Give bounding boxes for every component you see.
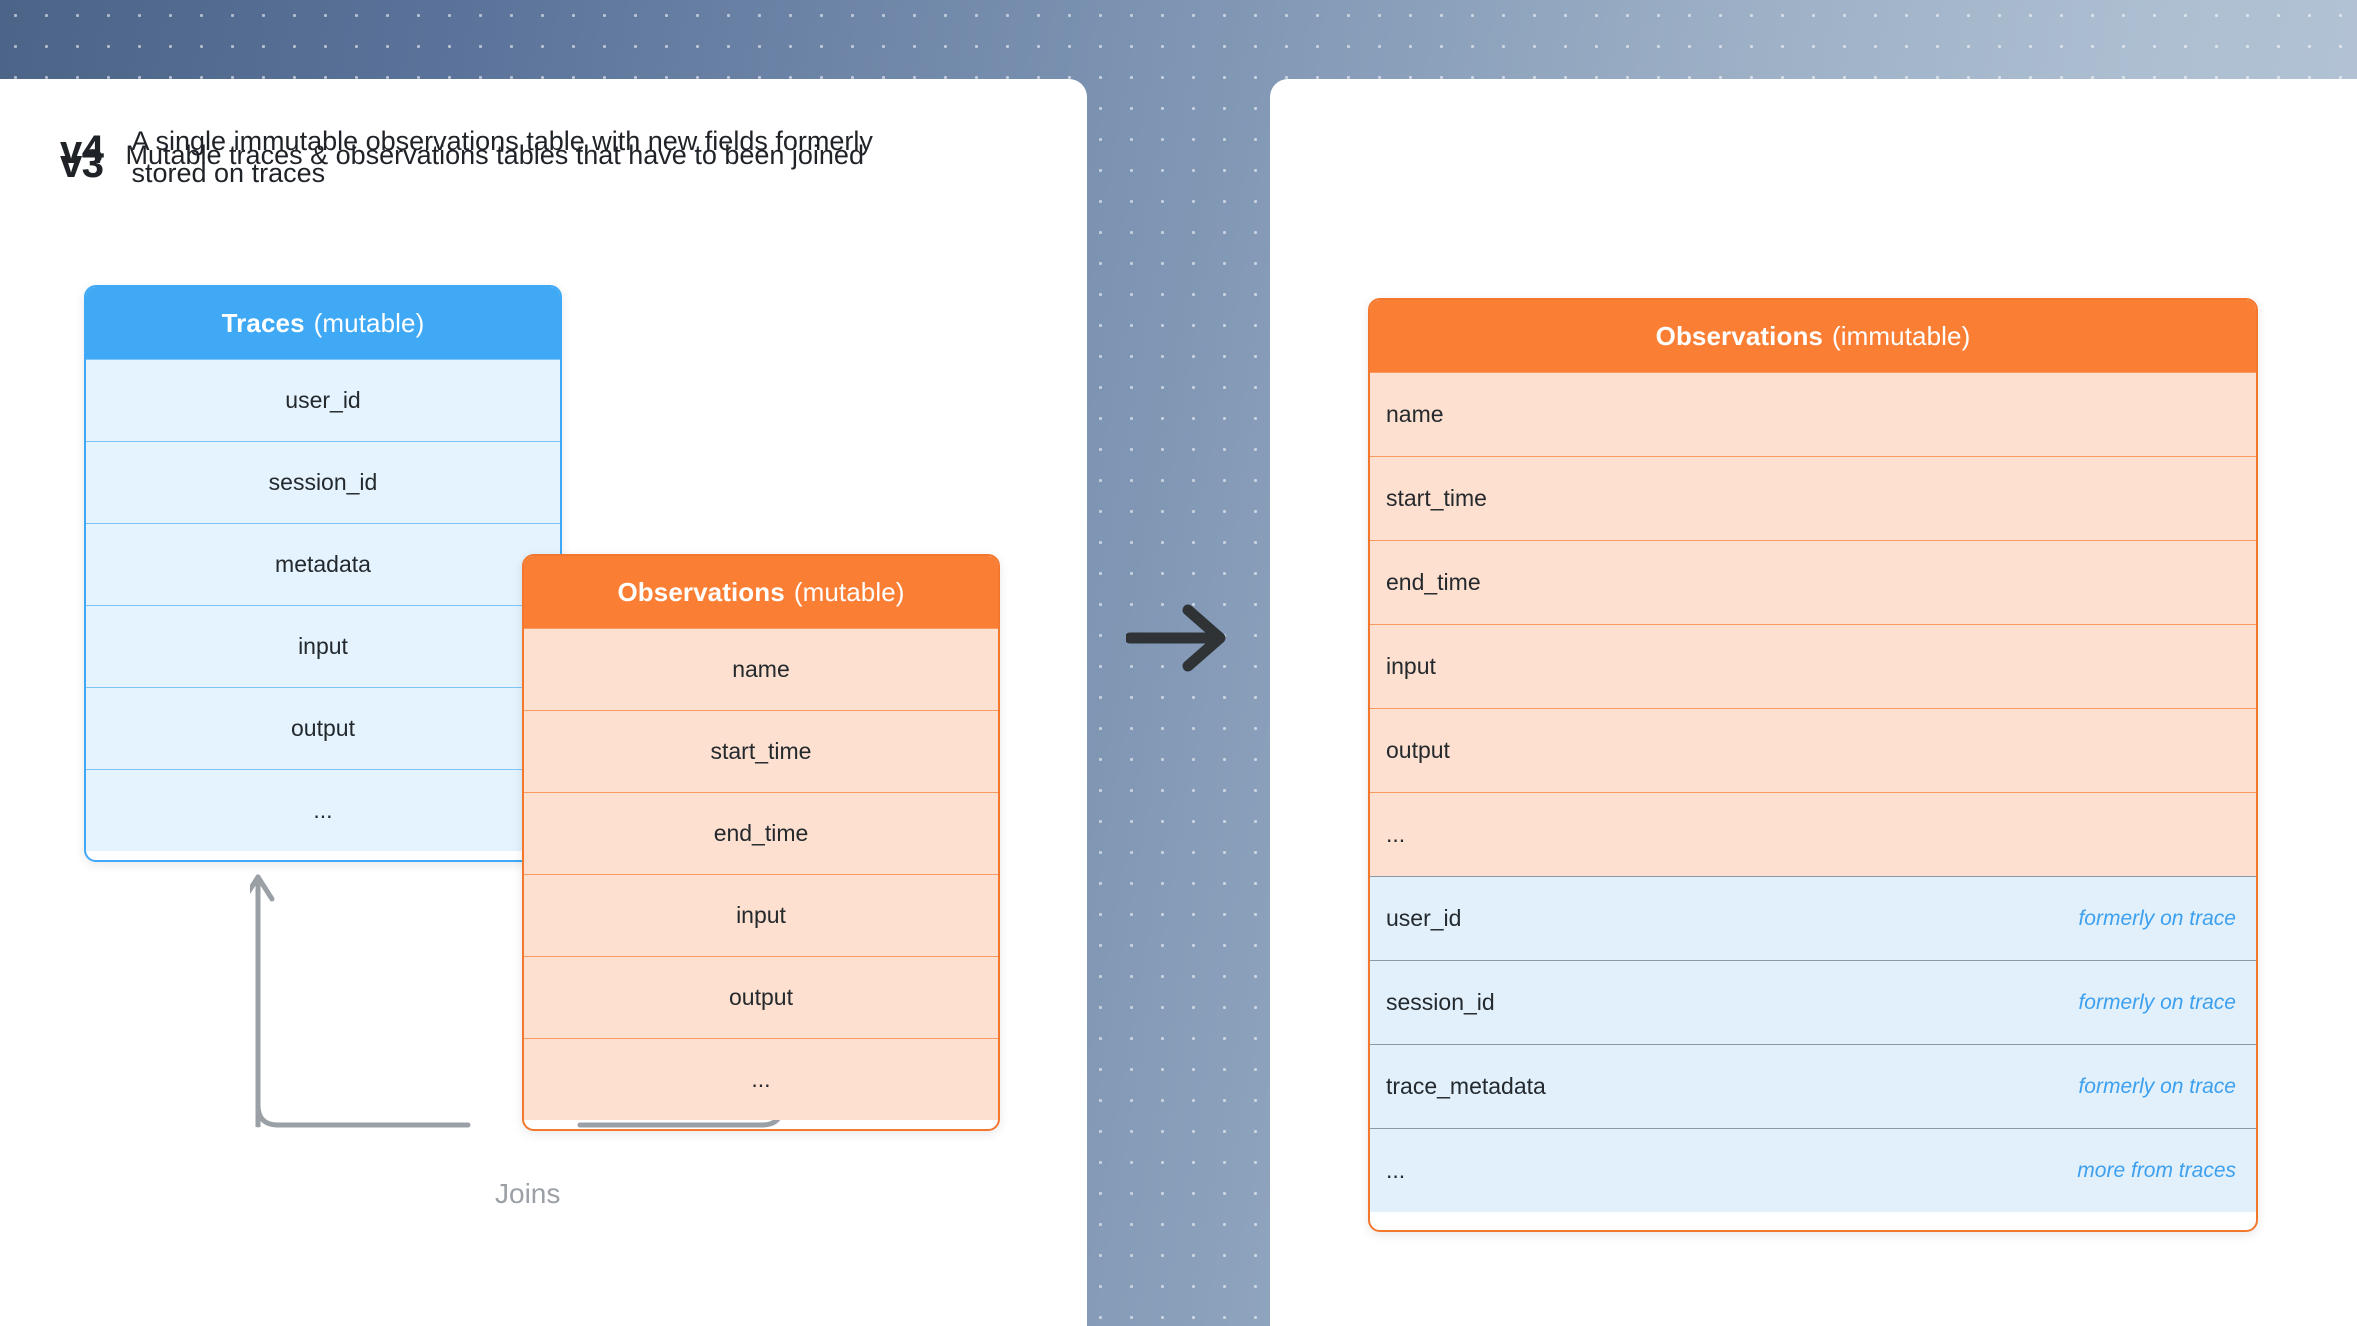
table-row: input	[1370, 624, 2256, 708]
table-row: output	[1370, 708, 2256, 792]
field-name: session_id	[1386, 989, 1495, 1016]
field-name: start_time	[711, 738, 812, 765]
field-name: metadata	[275, 551, 371, 578]
table-row: name	[1370, 372, 2256, 456]
panel-v4-heading: v4 A single immutable observations table…	[60, 126, 922, 190]
observations-immutable-table-header: Observations (immutable)	[1370, 300, 2256, 372]
field-name: ...	[1386, 1157, 1405, 1184]
field-name: output	[291, 715, 355, 742]
field-name: input	[298, 633, 348, 660]
table-row: input	[86, 605, 560, 687]
traces-table-subtitle: (mutable)	[314, 308, 425, 339]
field-name: output	[1386, 737, 1450, 764]
field-name: output	[729, 984, 793, 1011]
table-row: output	[86, 687, 560, 769]
traces-table-title: Traces	[222, 308, 305, 339]
table-row: ...	[524, 1038, 998, 1120]
field-note: more from traces	[2077, 1159, 2236, 1183]
table-row: end_time	[1370, 540, 2256, 624]
observations-immutable-table: Observations (immutable) name start_time…	[1368, 298, 2258, 1232]
table-row: metadata	[86, 523, 560, 605]
observations-mutable-title: Observations	[617, 577, 784, 608]
field-name: start_time	[1386, 485, 1487, 512]
version-label-v4: v4	[60, 126, 104, 170]
field-name: ...	[1386, 821, 1405, 848]
field-name: trace_metadata	[1386, 1073, 1546, 1100]
field-name: input	[736, 902, 786, 929]
field-note: formerly on trace	[2078, 991, 2236, 1015]
field-note: formerly on trace	[2078, 1075, 2236, 1099]
field-name: ...	[751, 1066, 770, 1093]
field-name: name	[1386, 401, 1444, 428]
observations-mutable-subtitle: (mutable)	[794, 577, 905, 608]
field-name: session_id	[269, 469, 378, 496]
table-row: session_id formerly on trace	[1370, 960, 2256, 1044]
table-row: name	[524, 628, 998, 710]
table-row: trace_metadata formerly on trace	[1370, 1044, 2256, 1128]
field-name: user_id	[285, 387, 360, 414]
table-row: session_id	[86, 441, 560, 523]
panel-v4-description: A single immutable observations table wi…	[132, 126, 922, 190]
field-name: end_time	[1386, 569, 1481, 596]
table-row: user_id	[86, 359, 560, 441]
table-row: ... more from traces	[1370, 1128, 2256, 1212]
field-name: end_time	[714, 820, 809, 847]
observations-immutable-title: Observations	[1656, 321, 1823, 352]
table-row: end_time	[524, 792, 998, 874]
table-row: input	[524, 874, 998, 956]
field-name: input	[1386, 653, 1436, 680]
field-name: user_id	[1386, 905, 1461, 932]
joins-label: Joins	[495, 1178, 560, 1210]
field-note: formerly on trace	[2078, 907, 2236, 931]
field-name: ...	[313, 797, 332, 824]
observations-mutable-table: Observations (mutable) name start_time e…	[522, 554, 1000, 1131]
table-row: start_time	[1370, 456, 2256, 540]
table-row: start_time	[524, 710, 998, 792]
observations-mutable-table-header: Observations (mutable)	[524, 556, 998, 628]
table-row: output	[524, 956, 998, 1038]
observations-immutable-subtitle: (immutable)	[1832, 321, 1970, 352]
traces-table: Traces (mutable) user_id session_id meta…	[84, 285, 562, 862]
table-row: ...	[1370, 792, 2256, 876]
field-name: name	[732, 656, 790, 683]
traces-table-header: Traces (mutable)	[86, 287, 560, 359]
diagram-canvas: v3 Mutable traces & observations tables …	[0, 0, 2357, 1326]
arrow-right-icon	[1126, 602, 1230, 674]
table-row: ...	[86, 769, 560, 851]
table-row: user_id formerly on trace	[1370, 876, 2256, 960]
